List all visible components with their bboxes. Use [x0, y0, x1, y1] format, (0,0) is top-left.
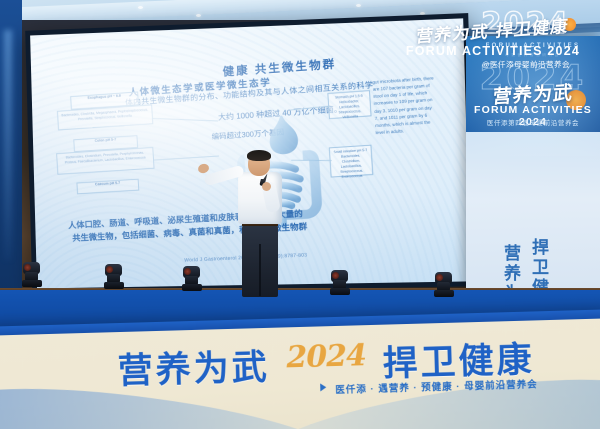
ceiling-light — [356, 4, 361, 7]
ceiling-light — [138, 6, 143, 9]
diagram-box-body: Bacteroides, Clostridium, Prevotella, Po… — [57, 148, 153, 168]
watermark-forum-text: FORUM ACTIVITIES — [406, 44, 543, 58]
photo-watermark: 2024 营养为武 捍卫健康 FORUM ACTIVITIES 2024 @医仟… — [416, 6, 592, 70]
diagram-box-header: Caecum pH 5.7 — [77, 180, 137, 188]
speaker-hair — [247, 150, 271, 161]
speaker-mic-hand — [262, 182, 271, 191]
speaker — [218, 152, 304, 297]
banner-forum-chinese: 医仟添第四届母婴前沿营养会 — [466, 117, 600, 127]
watermark-forum-label: FORUM ACTIVITIES 2024 — [406, 44, 580, 58]
watermark-calligraphy: 营养为武 捍卫健康 — [415, 12, 570, 47]
watermark-forum-year: 2024 — [547, 44, 580, 58]
conference-photo-scene: 健康 共生微生物群 人体微生态学或医学微生态学 体内共生微生物群的分布、功能结构… — [0, 0, 600, 429]
diagram-box-body: Stomach pH 1.5-5 Helicobacter, Lactobaci… — [328, 91, 370, 123]
event-backdrop-banner: FORUM ACTIVITIES 母婴营养前沿研讨会 2024 营养为武 FOR… — [466, 36, 600, 324]
ceiling-light — [196, 14, 201, 17]
moving-head-stage-light — [104, 264, 124, 290]
foreground-stage-banner: 营养为武 2024 捍卫健康 医仟添 · 遇营养 · 预健康 · 母婴前沿营养会 — [0, 309, 600, 429]
diagram-box-right: Small intestine pH 5-7 Bacteroides, Clos… — [329, 145, 374, 178]
moving-head-stage-light — [22, 262, 42, 288]
diagram-box-right: Stomach pH 1.5-5 Helicobacter, Lactobaci… — [327, 90, 371, 119]
diagram-connector — [153, 118, 218, 122]
wall-glow — [4, 30, 12, 260]
banner-year-script: 2024 — [286, 338, 366, 375]
bullet-arrow-icon — [320, 383, 326, 391]
banner-main-left-text: 营养为武 — [117, 339, 270, 394]
diagram-box-body: Small intestine pH 5-7 Bacteroides, Clos… — [330, 146, 373, 182]
diagram-box-header: Esophagus pH ~ 6.8 — [71, 92, 137, 101]
speaker-leg-split — [259, 244, 261, 296]
diagram-connector — [154, 155, 219, 160]
watermark-handle: @医仟添母婴前沿营养会 — [482, 59, 570, 70]
diagram-box: Caecum pH 5.7 — [76, 179, 139, 195]
left-wall-panel — [0, 0, 22, 330]
moving-head-stage-light — [434, 272, 454, 298]
moving-head-stage-light — [330, 270, 350, 296]
slide-english-text: gut microbiota after birth, there are 10… — [372, 74, 437, 136]
moving-head-stage-light — [182, 266, 202, 292]
diagram-box: Bacteroides, Clostridium, Prevotella, Po… — [56, 147, 154, 175]
diagram-box-header: Colon pH 5-7 — [74, 136, 136, 144]
